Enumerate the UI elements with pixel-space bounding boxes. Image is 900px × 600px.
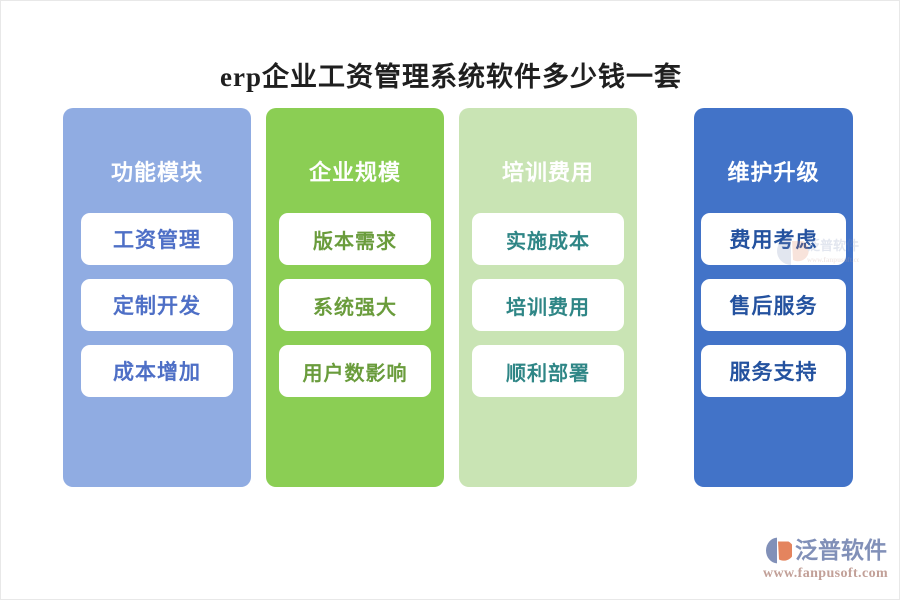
brand-name: 泛普软件 [795,537,887,564]
brand-logo: 泛普软件 www.fanpusoft.com [763,535,893,585]
brand-url: www.fanpusoft.com [763,566,893,582]
infographic-page: erp企业工资管理系统软件多少钱一套 功能模块 工资管理 定制开发 成本增加 企… [0,0,900,600]
fanpu-logo-icon [763,537,792,564]
brand-logo-row: 泛普软件 [763,535,893,565]
list-item[interactable]: 用户数影响 [279,345,431,397]
column-items: 工资管理 定制开发 成本增加 [63,213,251,411]
column-header: 维护升级 [694,108,853,187]
column-header: 培训费用 [459,108,637,187]
list-item[interactable]: 系统强大 [279,279,431,331]
list-item[interactable]: 服务支持 [701,345,846,397]
column-header: 功能模块 [63,108,251,187]
list-item[interactable]: 实施成本 [472,213,624,265]
list-item[interactable]: 成本增加 [81,345,233,397]
column-header: 企业规模 [266,108,444,187]
list-item[interactable]: 培训费用 [472,279,624,331]
list-item[interactable]: 工资管理 [81,213,233,265]
column-function-modules: 功能模块 工资管理 定制开发 成本增加 [63,108,251,487]
column-maintenance-upgrade: 维护升级 费用考虑 售后服务 服务支持 [694,108,853,487]
columns-container: 功能模块 工资管理 定制开发 成本增加 企业规模 版本需求 系统强大 用户数影响… [63,108,853,487]
list-item[interactable]: 售后服务 [701,279,846,331]
column-training-cost: 培训费用 实施成本 培训费用 顺利部署 [459,108,637,487]
list-item[interactable]: 顺利部署 [472,345,624,397]
column-items: 实施成本 培训费用 顺利部署 [459,213,637,411]
column-items: 费用考虑 售后服务 服务支持 [694,213,853,411]
list-item[interactable]: 定制开发 [81,279,233,331]
column-items: 版本需求 系统强大 用户数影响 [266,213,444,411]
list-item[interactable]: 版本需求 [279,213,431,265]
column-enterprise-scale: 企业规模 版本需求 系统强大 用户数影响 [266,108,444,487]
page-title: erp企业工资管理系统软件多少钱一套 [1,55,900,94]
list-item[interactable]: 费用考虑 [701,213,846,265]
